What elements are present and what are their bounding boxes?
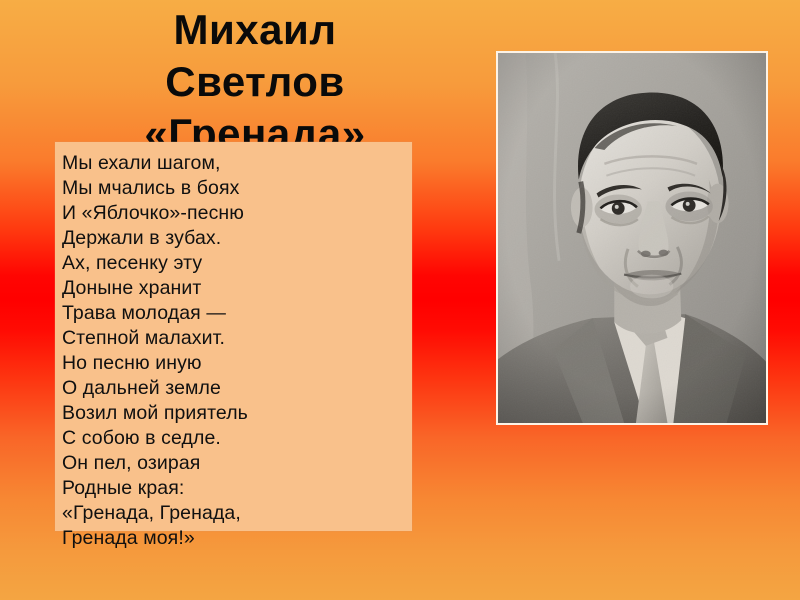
title-line-2: Светлов: [40, 56, 470, 108]
poem-line: С собою в седле.: [62, 426, 412, 451]
poem-line: Держали в зубах.: [62, 226, 412, 251]
slide-canvas: Михаил Светлов «Гренада» Мы ехали шагом,…: [0, 0, 800, 600]
poem-line: Он пел, озирая: [62, 451, 412, 476]
poem-line: Ах, песенку эту: [62, 251, 412, 276]
poem-line: Мы ехали шагом,: [62, 151, 412, 176]
poem-line: Но песню иную: [62, 351, 412, 376]
poem-text-panel: Мы ехали шагом, Мы мчались в боях И «Ябл…: [55, 142, 412, 531]
portrait-photo-inner: [498, 53, 766, 423]
poem-line: Родные края:: [62, 476, 412, 501]
poem-line: И «Яблочко»-песню: [62, 201, 412, 226]
poem-line: «Гренада, Гренада,: [62, 501, 412, 526]
poem-line: Возил мой приятель: [62, 401, 412, 426]
poem-line: Гренада моя!»: [62, 526, 412, 551]
page-title: Михаил Светлов «Гренада»: [40, 4, 470, 160]
poem-line: Доныне хранит: [62, 276, 412, 301]
poem-line: Степной малахит.: [62, 326, 412, 351]
portrait-photo: [496, 51, 768, 425]
poem-line: Мы мчались в боях: [62, 176, 412, 201]
title-line-1: Михаил: [40, 4, 470, 56]
poem-line: Трава молодая —: [62, 301, 412, 326]
portrait-photo-image: [498, 53, 766, 423]
poem-line: О дальней земле: [62, 376, 412, 401]
